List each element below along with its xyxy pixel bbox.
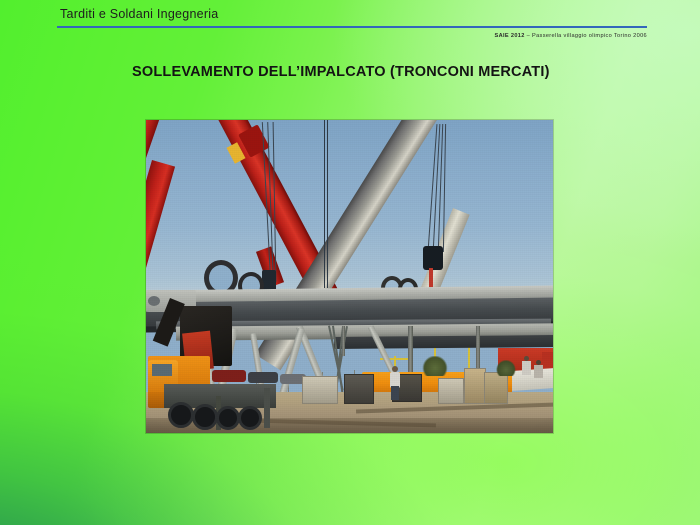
hoist-cable <box>324 120 325 288</box>
shrub <box>422 356 448 376</box>
concrete-block <box>484 372 508 404</box>
truck-crane-windshield <box>152 364 172 376</box>
truck-wheel <box>168 402 194 428</box>
site-worker-legs <box>391 386 399 400</box>
company-name: Tarditi e Soldani Ingegneria <box>60 7 219 21</box>
truck-wheel <box>192 404 218 430</box>
deck-subtitle: SAIE 2012 – Passerella villaggio olimpic… <box>0 33 647 39</box>
slide-header: Tarditi e Soldani Ingegneria SAIE 2012 –… <box>0 0 700 50</box>
crane-hook-block <box>423 246 443 270</box>
slide-title: SOLLEVAMENTO DELL’IMPALCATO (TRONCONI ME… <box>132 64 550 80</box>
concrete-block <box>302 376 338 404</box>
lower-girder <box>334 335 553 349</box>
concrete-block <box>344 374 374 404</box>
concrete-block <box>464 368 486 404</box>
truck-wheel <box>216 406 240 430</box>
crane-outrigger <box>264 388 270 428</box>
parked-vehicle <box>212 370 246 382</box>
header-divider-rule <box>57 26 647 28</box>
deck-subtitle-event: SAIE 2012 <box>495 33 525 39</box>
site-worker-body <box>534 365 543 378</box>
truck-wheel <box>238 406 262 430</box>
deck-subtitle-project: – Passerella villaggio olimpico Torino 2… <box>525 33 647 39</box>
shrub <box>496 360 516 376</box>
hoist-cable <box>327 120 328 288</box>
construction-photo <box>146 120 553 433</box>
support-post <box>342 326 345 356</box>
steel-girder-pin-hole <box>148 296 160 306</box>
parked-vehicle <box>248 372 278 383</box>
concrete-block <box>438 378 464 404</box>
slide-canvas: Tarditi e Soldani Ingegneria SAIE 2012 –… <box>0 0 700 525</box>
site-worker-body <box>522 361 531 375</box>
